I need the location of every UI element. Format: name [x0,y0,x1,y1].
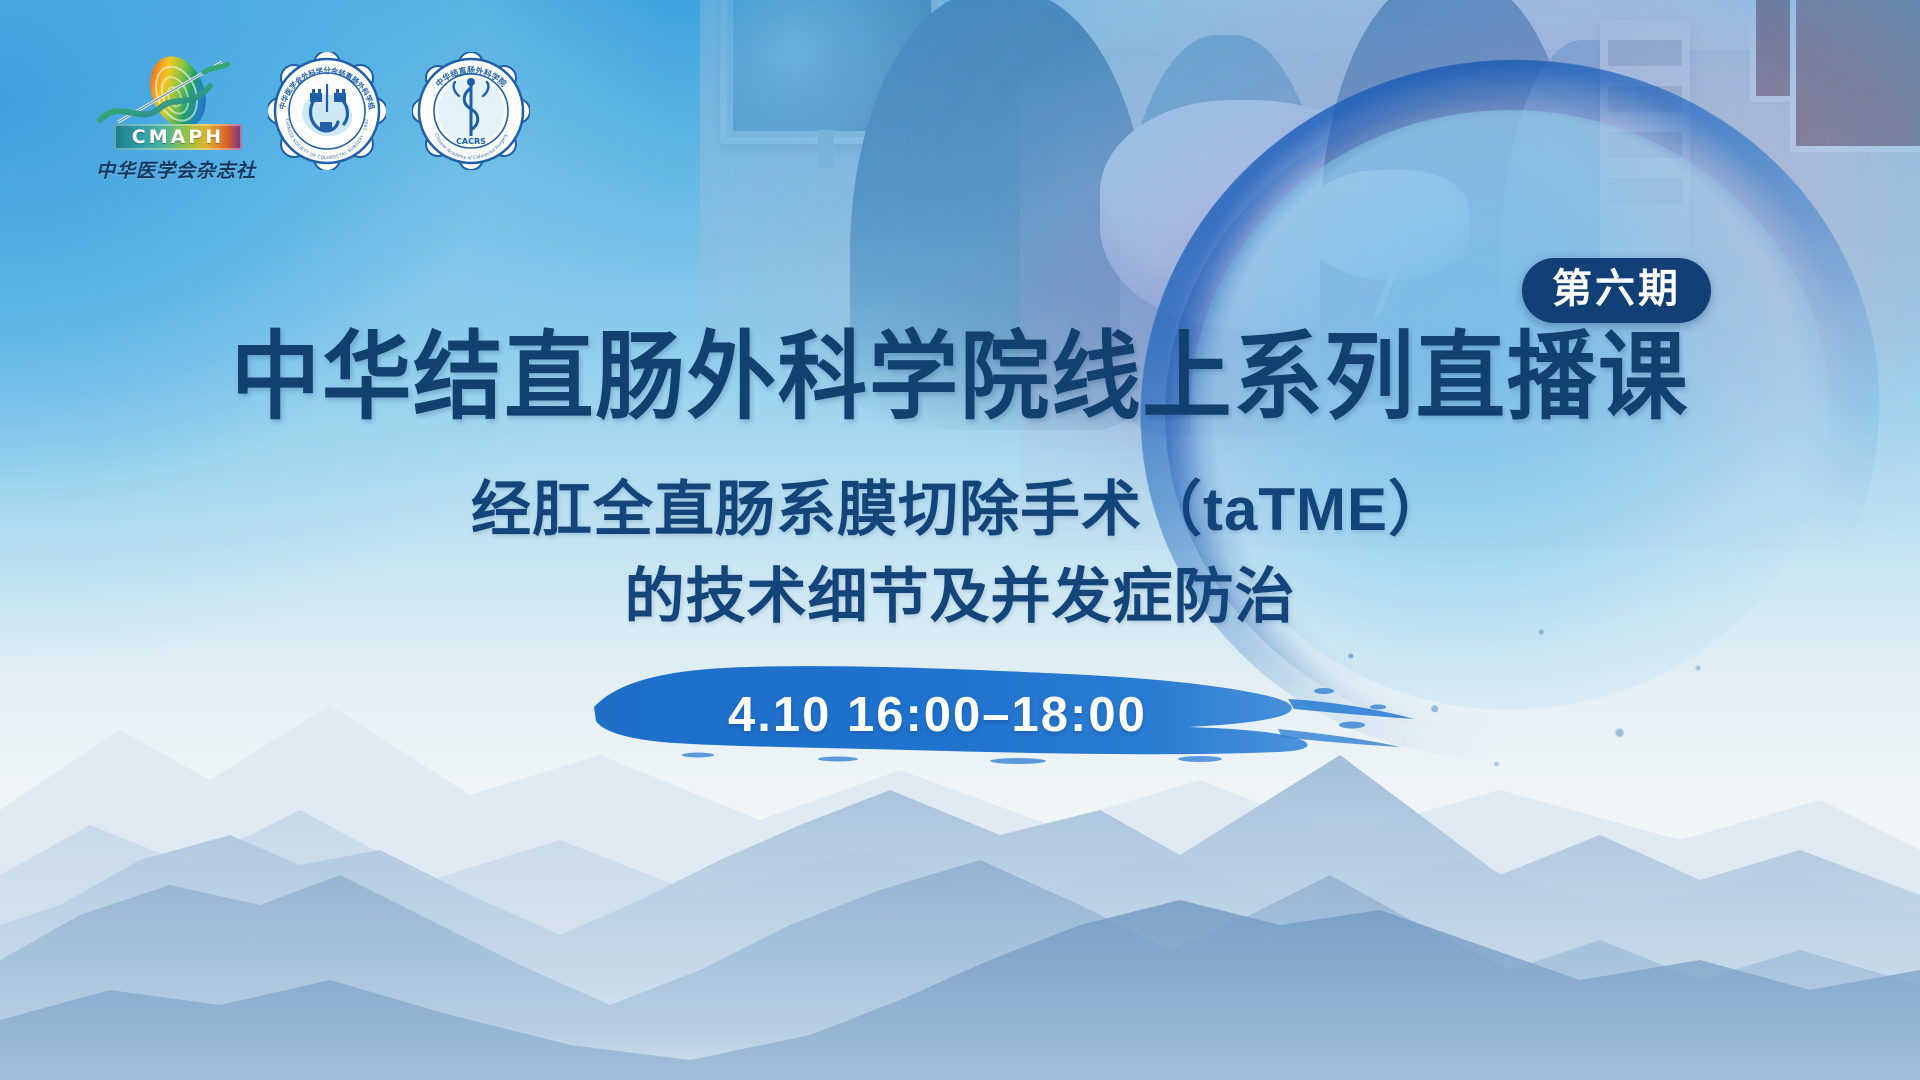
cmaph-wordmark-text: CMAPH [132,126,224,148]
logo-group: CMAPH 中华医学会杂志社 [92,52,530,180]
page-title: 中华结直肠外科学院线上系列直播课 [67,330,1853,426]
logo-seal-cscc[interactable]: 中华医学会外科学分会结直肠外科学组 CHINESE SOCIETY OF COL… [268,52,386,170]
seal-abbr: CACRS [456,137,486,146]
schedule-datetime: 4.10 16:00–18:00 [588,655,1428,775]
subtitle-line-1: 经肛全直肠系膜切除手术（taTME） [0,475,1920,546]
cmaph-chinese-name: 中华医学会杂志社 [96,156,242,183]
schedule-banner: 4.10 16:00–18:00 [588,655,1428,775]
episode-badge: 第六期 [1522,258,1711,323]
logo-cmaph[interactable]: CMAPH 中华医学会杂志社 [92,52,242,180]
subtitle-line-2: 的技术细节及并发症防治 [0,562,1920,633]
circular-seal-icon: 中华医学会外科学分会结直肠外科学组 CHINESE SOCIETY OF COL… [268,52,386,170]
cmaph-wordmark: CMAPH [114,124,242,150]
poster-canvas: CMAPH 中华医学会杂志社 [0,0,1920,1080]
circular-seal-icon: CACRS 中华结直肠外科学院 Chinese Academy of Color… [412,52,530,170]
logo-seal-cacrs[interactable]: CACRS 中华结直肠外科学院 Chinese Academy of Color… [412,52,530,170]
satellite-dish-rainbow-icon [92,52,242,134]
